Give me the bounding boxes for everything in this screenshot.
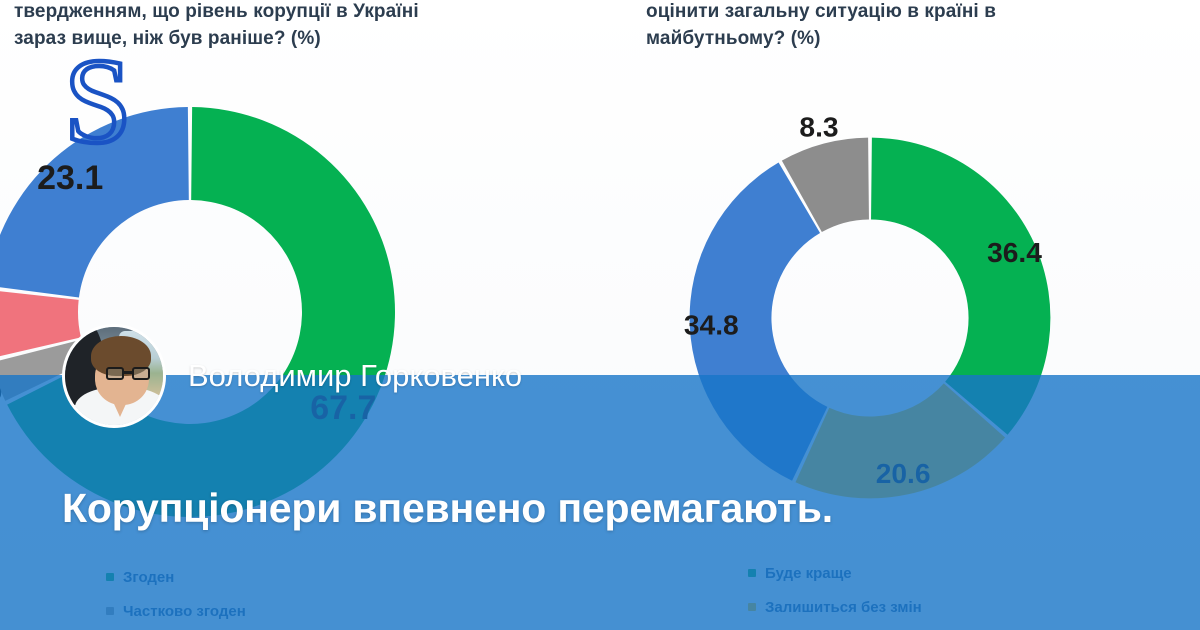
author-avatar — [62, 324, 166, 428]
article-headline: Корупціонери впевнено перемагають. — [62, 484, 1142, 532]
left-chart-title: твердженням, що рівень корупції в Україн… — [14, 0, 574, 52]
donut-slice-label: 23.1 — [37, 159, 103, 197]
logo-letter: S — [64, 50, 132, 158]
donut-slice-label: 36.4 — [987, 237, 1042, 268]
avatar-glasses-icon — [106, 367, 150, 380]
donut-slice-label: 34.8 — [684, 310, 739, 341]
author-name: Володимир Горковенко — [188, 359, 522, 393]
site-logo-s-icon: S — [58, 50, 168, 158]
right-chart-title: оцінити загальну ситуацію в країні в май… — [646, 0, 1186, 52]
avatar-photo — [65, 327, 163, 425]
donut-slice-label: 8.3 — [799, 112, 838, 143]
author-row: Володимир Горковенко — [62, 312, 522, 440]
